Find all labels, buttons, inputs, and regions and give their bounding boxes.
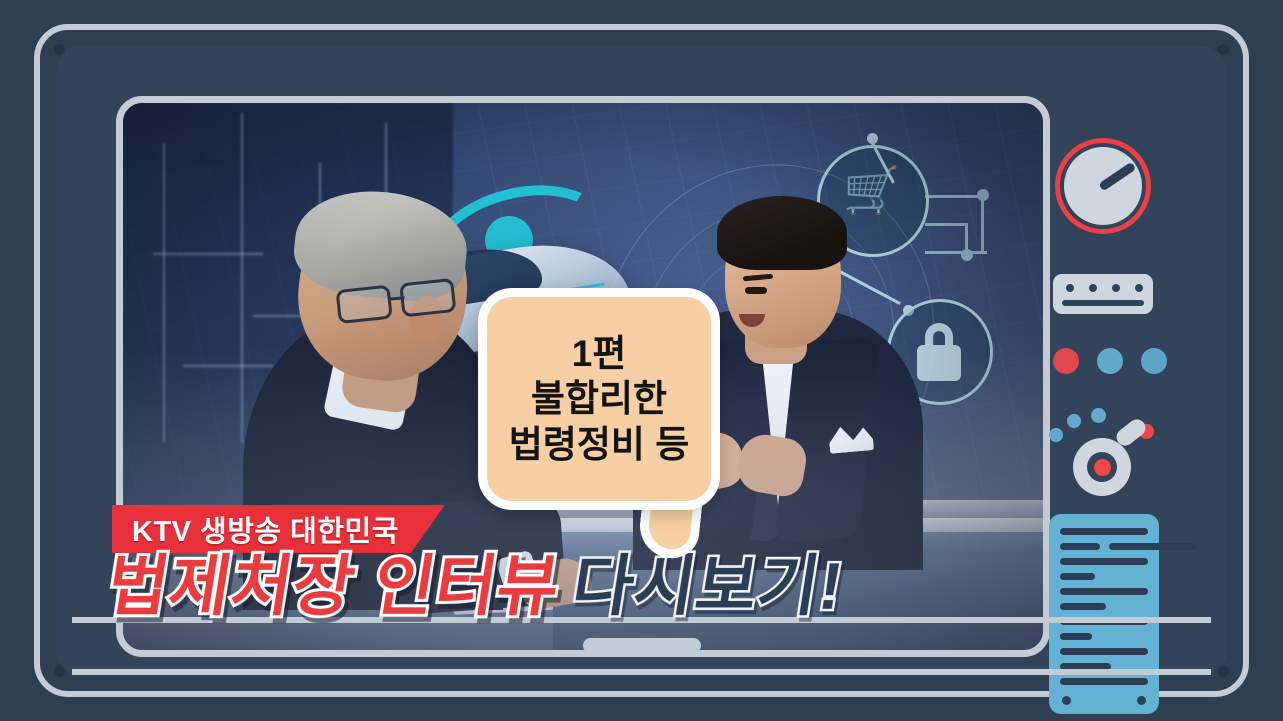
dial-needle [1098,162,1136,192]
control-panel [1027,62,1209,659]
bubble-line-1: 1편 [572,331,627,376]
program-banner-label: KTV 생방송 대한민국 [132,508,399,550]
knob-ring [1073,438,1131,496]
led-blue-2-icon [1141,348,1167,374]
dial-face [1064,147,1142,225]
knob-dot-blue-3 [1091,408,1106,423]
main-title: 법제처장 인터뷰 다시보기! [108,553,843,619]
slider-fader-icon[interactable] [1053,274,1153,314]
led-red-icon [1053,348,1079,374]
knob-dot-blue-1 [1049,428,1063,442]
knob-dot-blue-2 [1067,414,1081,428]
led-indicator-row [1053,348,1167,374]
title-red-text: 법제처장 인터뷰 [103,553,565,619]
card-screw-left [1062,696,1071,705]
program-banner: KTV 생방송 대한민국 [112,505,445,553]
led-blue-1-icon [1097,348,1123,374]
thumbnail-root: 🛒 [0,0,1283,721]
screw-bottom-right [1218,666,1229,677]
card-screw-right [1137,696,1146,705]
bubble-line-2: 불합리한 [531,376,667,421]
bubble-line-3: 법령정비 등 [509,422,689,467]
text-card-icon[interactable] [1049,514,1159,714]
bottom-divider-2 [72,669,1211,675]
speech-bubble: 1편 불합리한 법령정비 등 [478,288,720,510]
record-knob-icon[interactable] [1049,412,1169,502]
bottom-handle[interactable] [583,638,701,653]
gauge-dial-icon[interactable] [1055,138,1151,234]
title-navy-text: 다시보기! [568,553,848,619]
